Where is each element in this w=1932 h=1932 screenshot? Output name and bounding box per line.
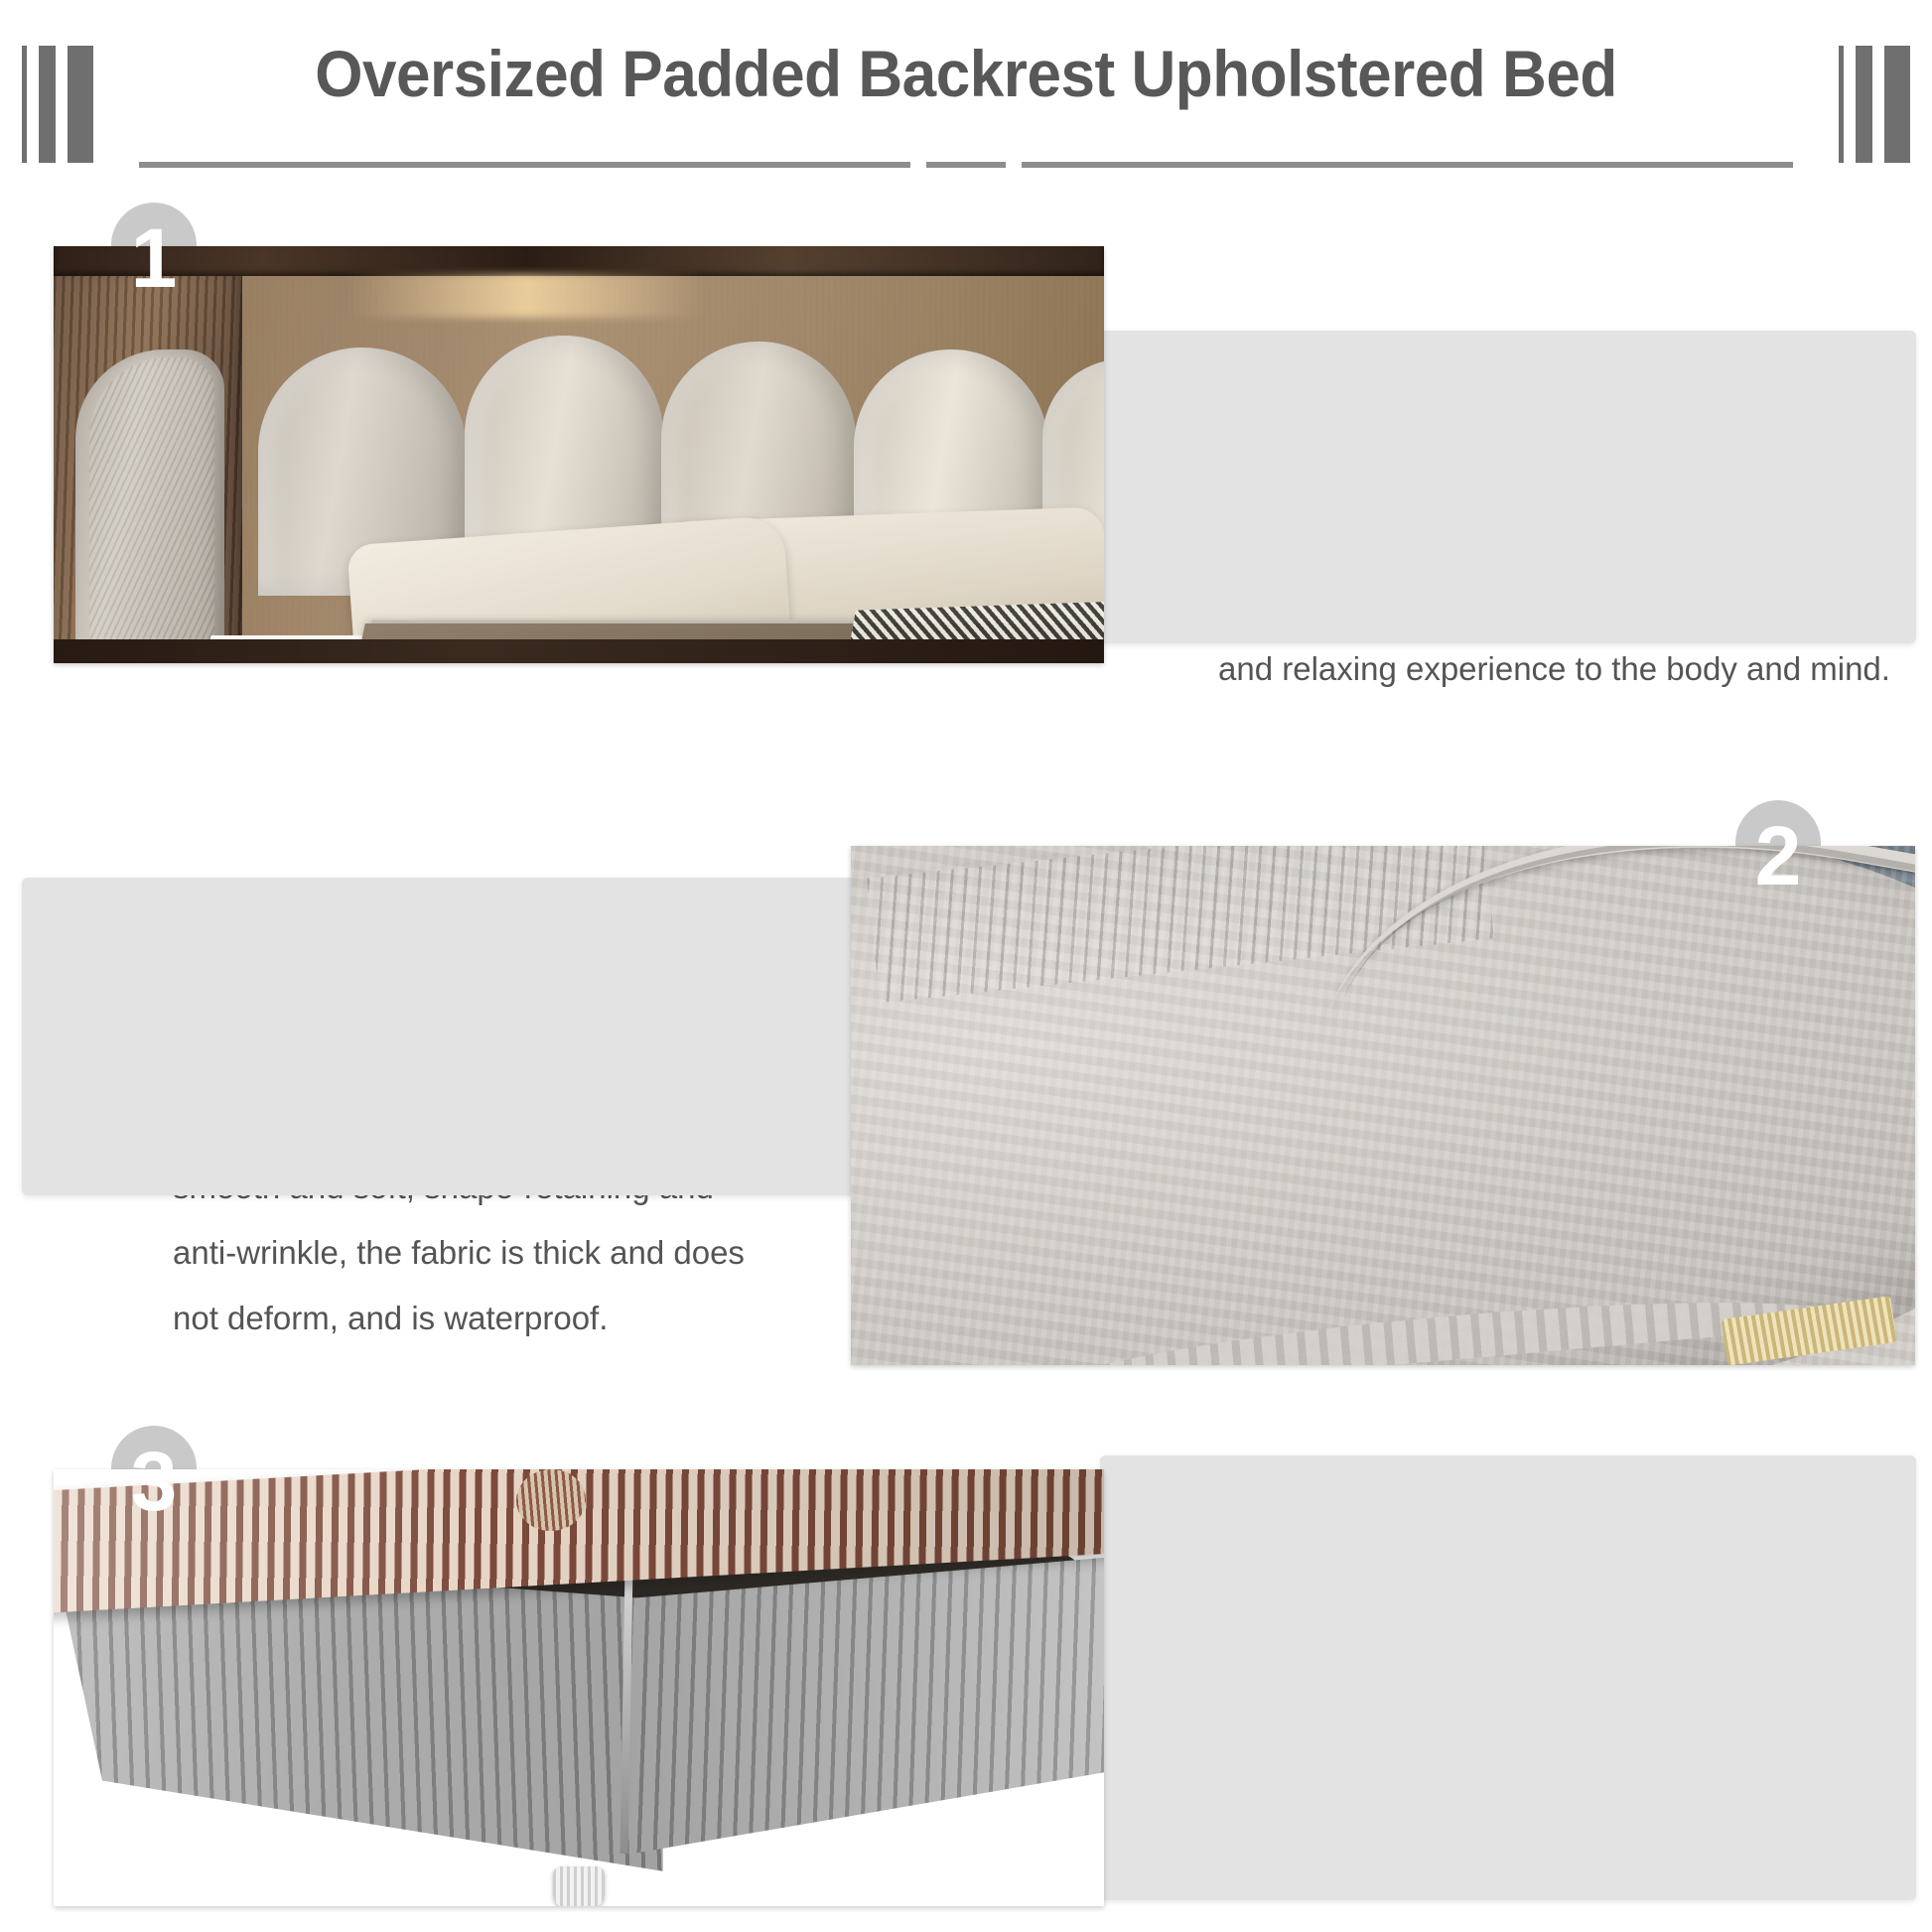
- feature-body-line: anti-wrinkle, the fabric is thick and do…: [173, 1220, 828, 1286]
- underline-gap: [1006, 162, 1022, 168]
- infographic-page: Oversized Padded Backrest Upholstered Be…: [0, 0, 1932, 1932]
- photo-bed-leg: [553, 1866, 605, 1906]
- underline-segment: [926, 162, 1006, 168]
- feature-card-3: [1100, 1455, 1916, 1900]
- page-header: Oversized Padded Backrest Upholstered Be…: [0, 0, 1932, 195]
- photo-headboard-side-panel: [75, 349, 224, 663]
- photo-ceiling-strip: [54, 246, 1104, 276]
- feature-badge-number-3: 3: [111, 1434, 197, 1537]
- decor-bar-medium-icon: [39, 46, 56, 163]
- underline-gap: [910, 162, 926, 168]
- feature-body-line: and relaxing experience to the body and …: [1218, 636, 1913, 702]
- decor-bar-thin-icon: [22, 46, 27, 163]
- feature-badge-number-1: 1: [111, 210, 197, 314]
- photo-floor-shadow: [54, 639, 1104, 663]
- headboard-photo: [54, 246, 1104, 663]
- feature-body-line: not deform, and is waterproof.: [173, 1286, 828, 1351]
- plush-fabric-photo: [851, 846, 1915, 1365]
- feature-card-2: [22, 878, 856, 1195]
- decor-bar-wide-icon: [1884, 46, 1910, 163]
- bed-corner-photo: [54, 1469, 1104, 1906]
- underline-segment: [1022, 162, 1793, 168]
- feature-card-1: [1100, 331, 1916, 643]
- feature-badge-number-2: 2: [1735, 808, 1821, 911]
- underline-segment: [139, 162, 910, 168]
- page-title: Oversized Padded Backrest Upholstered Be…: [58, 38, 1873, 110]
- title-underline: [139, 162, 1793, 168]
